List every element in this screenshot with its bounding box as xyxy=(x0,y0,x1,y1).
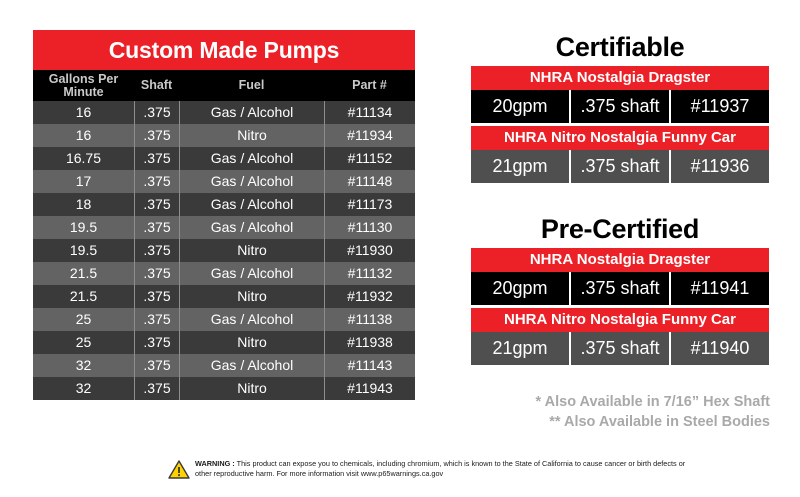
cell-gpm: 25 xyxy=(33,308,134,331)
cell-part: #11941 xyxy=(669,272,769,305)
custom-made-pumps-table: Custom Made Pumps Gallons PerMinute Shaf… xyxy=(33,30,415,400)
footnote-hex-shaft: * Also Available in 7/16” Hex Shaft xyxy=(420,392,770,412)
certifiable-section: Certifiable NHRA Nostalgia Dragster 20gp… xyxy=(471,30,769,183)
precertified-section: Pre-Certified NHRA Nostalgia Dragster 20… xyxy=(471,212,769,365)
cell-gpm: 32 xyxy=(33,354,134,377)
cell-gpm: 19.5 xyxy=(33,239,134,262)
column-header-fuel: Fuel xyxy=(179,79,324,92)
cell-part: #11932 xyxy=(324,285,415,308)
cell-part: #11132 xyxy=(324,262,415,285)
cell-fuel: Nitro xyxy=(179,285,324,308)
cell-part: #11143 xyxy=(324,354,415,377)
prop65-warning: WARNING : This product can expose you to… xyxy=(168,459,688,479)
warning-text: WARNING : This product can expose you to… xyxy=(195,459,688,478)
cell-shaft: .375 shaft xyxy=(569,150,669,183)
cell-shaft: .375 xyxy=(134,331,179,354)
precertified-group-label-funny-car: NHRA Nitro Nostalgia Funny Car xyxy=(471,308,769,332)
cell-gpm: 25 xyxy=(33,331,134,354)
cell-gpm: 21.5 xyxy=(33,285,134,308)
cell-gpm: 18 xyxy=(33,193,134,216)
table-row: 16.75 .375 Gas / Alcohol #11152 xyxy=(33,147,415,170)
cell-part: #11934 xyxy=(324,124,415,147)
footnote-steel-bodies: ** Also Available in Steel Bodies xyxy=(420,412,770,432)
cell-shaft: .375 shaft xyxy=(569,272,669,305)
cell-gpm: 32 xyxy=(33,377,134,400)
cell-gpm: 16 xyxy=(33,101,134,124)
cell-gpm: 16 xyxy=(33,124,134,147)
cell-gpm: 21gpm xyxy=(471,150,569,183)
cell-gpm: 17 xyxy=(33,170,134,193)
cell-fuel: Gas / Alcohol xyxy=(179,101,324,124)
cell-shaft: .375 xyxy=(134,239,179,262)
certifiable-group-label-dragster: NHRA Nostalgia Dragster xyxy=(471,66,769,90)
precertified-group-label-dragster: NHRA Nostalgia Dragster xyxy=(471,248,769,272)
cell-part: #11940 xyxy=(669,332,769,365)
cell-fuel: Nitro xyxy=(179,377,324,400)
cell-shaft: .375 xyxy=(134,262,179,285)
cell-fuel: Nitro xyxy=(179,239,324,262)
table-row: 25 .375 Nitro #11938 xyxy=(33,331,415,354)
table-row: 16 .375 Nitro #11934 xyxy=(33,124,415,147)
column-header-shaft: Shaft xyxy=(134,79,179,92)
cell-part: #11134 xyxy=(324,101,415,124)
certifiable-row-funny-car: 21gpm .375 shaft #11936 xyxy=(471,150,769,183)
table-row: 21.5 .375 Gas / Alcohol #11132 xyxy=(33,262,415,285)
cell-part: #11930 xyxy=(324,239,415,262)
pumps-table-header-row: Gallons PerMinute Shaft Fuel Part # xyxy=(33,70,415,101)
table-row: 32 .375 Nitro #11943 xyxy=(33,377,415,400)
cell-shaft: .375 xyxy=(134,308,179,331)
cell-gpm: 20gpm xyxy=(471,90,569,123)
certifiable-heading: Certifiable xyxy=(471,30,769,66)
table-row: 17 .375 Gas / Alcohol #11148 xyxy=(33,170,415,193)
cell-part: #11148 xyxy=(324,170,415,193)
cell-gpm: 19.5 xyxy=(33,216,134,239)
cell-fuel: Gas / Alcohol xyxy=(179,216,324,239)
cell-fuel: Gas / Alcohol xyxy=(179,354,324,377)
warning-label: WARNING : xyxy=(195,459,235,468)
cell-shaft: .375 xyxy=(134,354,179,377)
cell-shaft: .375 xyxy=(134,101,179,124)
cell-fuel: Gas / Alcohol xyxy=(179,147,324,170)
cell-gpm: 21gpm xyxy=(471,332,569,365)
table-row: 19.5 .375 Nitro #11930 xyxy=(33,239,415,262)
availability-footnotes: * Also Available in 7/16” Hex Shaft ** A… xyxy=(420,392,770,432)
cell-part: #11173 xyxy=(324,193,415,216)
cell-fuel: Nitro xyxy=(179,124,324,147)
cell-part: #11152 xyxy=(324,147,415,170)
warning-triangle-icon xyxy=(168,460,190,479)
cell-fuel: Gas / Alcohol xyxy=(179,308,324,331)
cell-part: #11130 xyxy=(324,216,415,239)
cell-part: #11936 xyxy=(669,150,769,183)
column-header-gallons-per-minute: Gallons PerMinute xyxy=(33,73,134,99)
table-row: 18 .375 Gas / Alcohol #11173 xyxy=(33,193,415,216)
cell-shaft: .375 shaft xyxy=(569,332,669,365)
cell-fuel: Gas / Alcohol xyxy=(179,170,324,193)
cell-gpm: 20gpm xyxy=(471,272,569,305)
cell-shaft: .375 xyxy=(134,285,179,308)
column-header-part-number: Part # xyxy=(324,79,415,92)
table-row: 16 .375 Gas / Alcohol #11134 xyxy=(33,101,415,124)
cell-shaft: .375 xyxy=(134,216,179,239)
cell-gpm: 21.5 xyxy=(33,262,134,285)
cell-shaft: .375 xyxy=(134,377,179,400)
table-row: 25 .375 Gas / Alcohol #11138 xyxy=(33,308,415,331)
cell-part: #11938 xyxy=(324,331,415,354)
cell-shaft: .375 xyxy=(134,170,179,193)
cell-fuel: Gas / Alcohol xyxy=(179,193,324,216)
cell-fuel: Nitro xyxy=(179,331,324,354)
table-row: 19.5 .375 Gas / Alcohol #11130 xyxy=(33,216,415,239)
precertified-row-dragster: 20gpm .375 shaft #11941 xyxy=(471,272,769,305)
warning-body: This product can expose you to chemicals… xyxy=(195,459,685,478)
pumps-table-title: Custom Made Pumps xyxy=(33,30,415,70)
cell-shaft: .375 xyxy=(134,193,179,216)
cell-part: #11943 xyxy=(324,377,415,400)
cell-shaft: .375 xyxy=(134,147,179,170)
table-row: 32 .375 Gas / Alcohol #11143 xyxy=(33,354,415,377)
cell-shaft: .375 xyxy=(134,124,179,147)
cell-shaft: .375 shaft xyxy=(569,90,669,123)
table-row: 21.5 .375 Nitro #11932 xyxy=(33,285,415,308)
cell-fuel: Gas / Alcohol xyxy=(179,262,324,285)
precertified-heading: Pre-Certified xyxy=(471,212,769,248)
cell-part: #11138 xyxy=(324,308,415,331)
certifiable-row-dragster: 20gpm .375 shaft #11937 xyxy=(471,90,769,123)
cell-gpm: 16.75 xyxy=(33,147,134,170)
cell-part: #11937 xyxy=(669,90,769,123)
precertified-row-funny-car: 21gpm .375 shaft #11940 xyxy=(471,332,769,365)
certifiable-group-label-funny-car: NHRA Nitro Nostalgia Funny Car xyxy=(471,126,769,150)
